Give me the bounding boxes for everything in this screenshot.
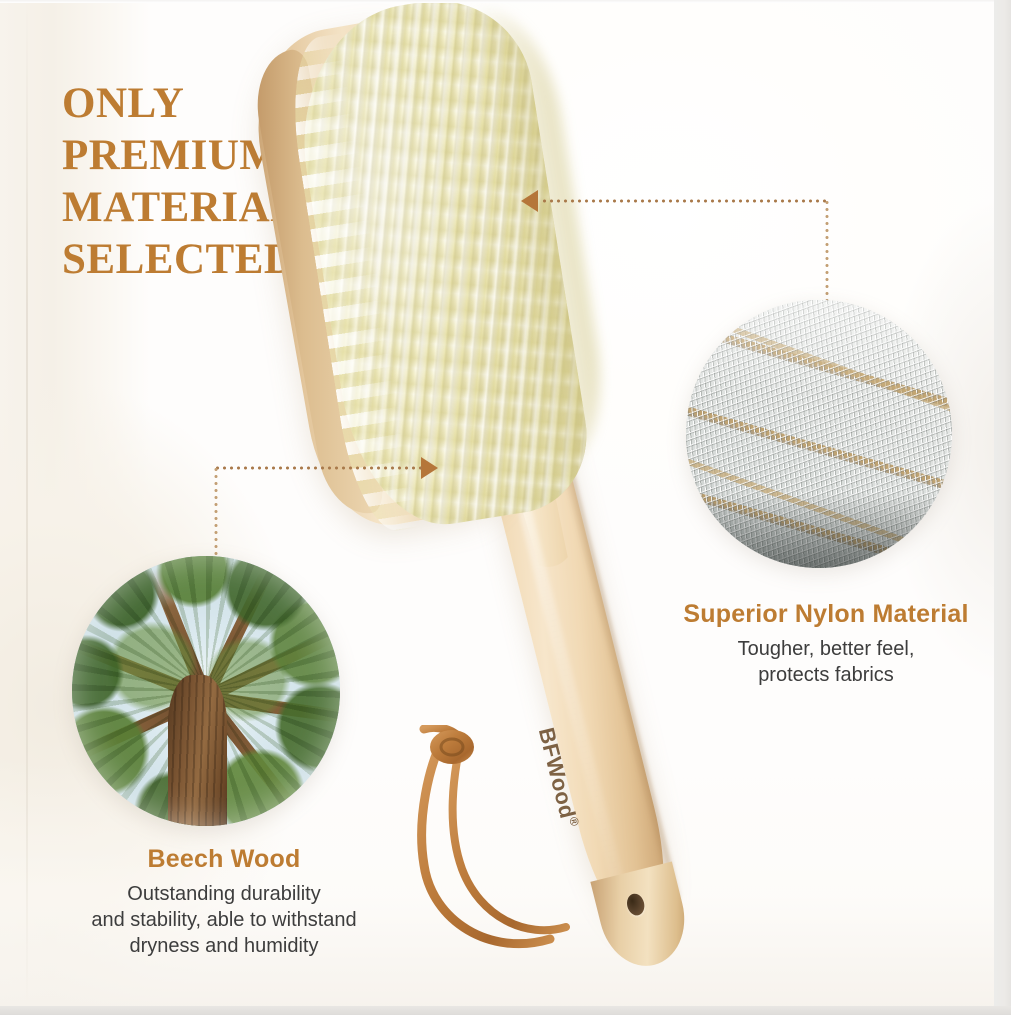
- callout-title-beech: Beech Wood: [44, 843, 404, 875]
- callout-body-line: dryness and humidity: [44, 933, 404, 959]
- cord-strand-outer: [422, 741, 550, 944]
- hanging-cord: [380, 725, 610, 975]
- product-infographic: ONLY PREMIUM MATERIALS SELECTED BFWood®: [0, 0, 1011, 1015]
- callout-caption-nylon: Superior Nylon Material Tougher, better …: [648, 598, 1004, 688]
- callout-body-line: protects fabrics: [648, 662, 1004, 688]
- frame-edge-right: [994, 0, 1011, 1015]
- frame-edge-top: [0, 0, 1011, 3]
- callout-body-line: Tougher, better feel,: [648, 636, 1004, 662]
- callout-arrow-nylon: [521, 190, 538, 212]
- callout-body-nylon: Tougher, better feel, protects fabrics: [648, 636, 1004, 688]
- tree-photo: [72, 556, 340, 826]
- loom-shadow: [686, 493, 952, 568]
- callout-caption-beech: Beech Wood Outstanding durability and st…: [44, 843, 404, 959]
- callout-body-line: Outstanding durability: [44, 881, 404, 907]
- callout-image-nylon: [686, 300, 952, 568]
- callout-title-nylon: Superior Nylon Material: [648, 598, 1004, 630]
- tree-vignette: [72, 556, 340, 826]
- callout-body-beech: Outstanding durability and stability, ab…: [44, 881, 404, 959]
- callout-leader-nylon-horizontal: [541, 199, 829, 203]
- frame-edge-bottom: [0, 1006, 1011, 1015]
- callout-leader-beech-horizontal: [214, 466, 422, 470]
- cord-knot: [430, 730, 474, 764]
- hanging-cord-svg: [380, 725, 610, 975]
- callout-leader-nylon-vertical: [825, 199, 829, 311]
- loom-photo: [686, 300, 952, 568]
- callout-image-beech: [72, 556, 340, 826]
- callout-arrow-beech: [421, 457, 438, 479]
- background-seam: [26, 0, 28, 1015]
- callout-body-line: and stability, able to withstand: [44, 907, 404, 933]
- cord-strand-inner: [453, 745, 566, 930]
- loom-highlight: [686, 300, 952, 394]
